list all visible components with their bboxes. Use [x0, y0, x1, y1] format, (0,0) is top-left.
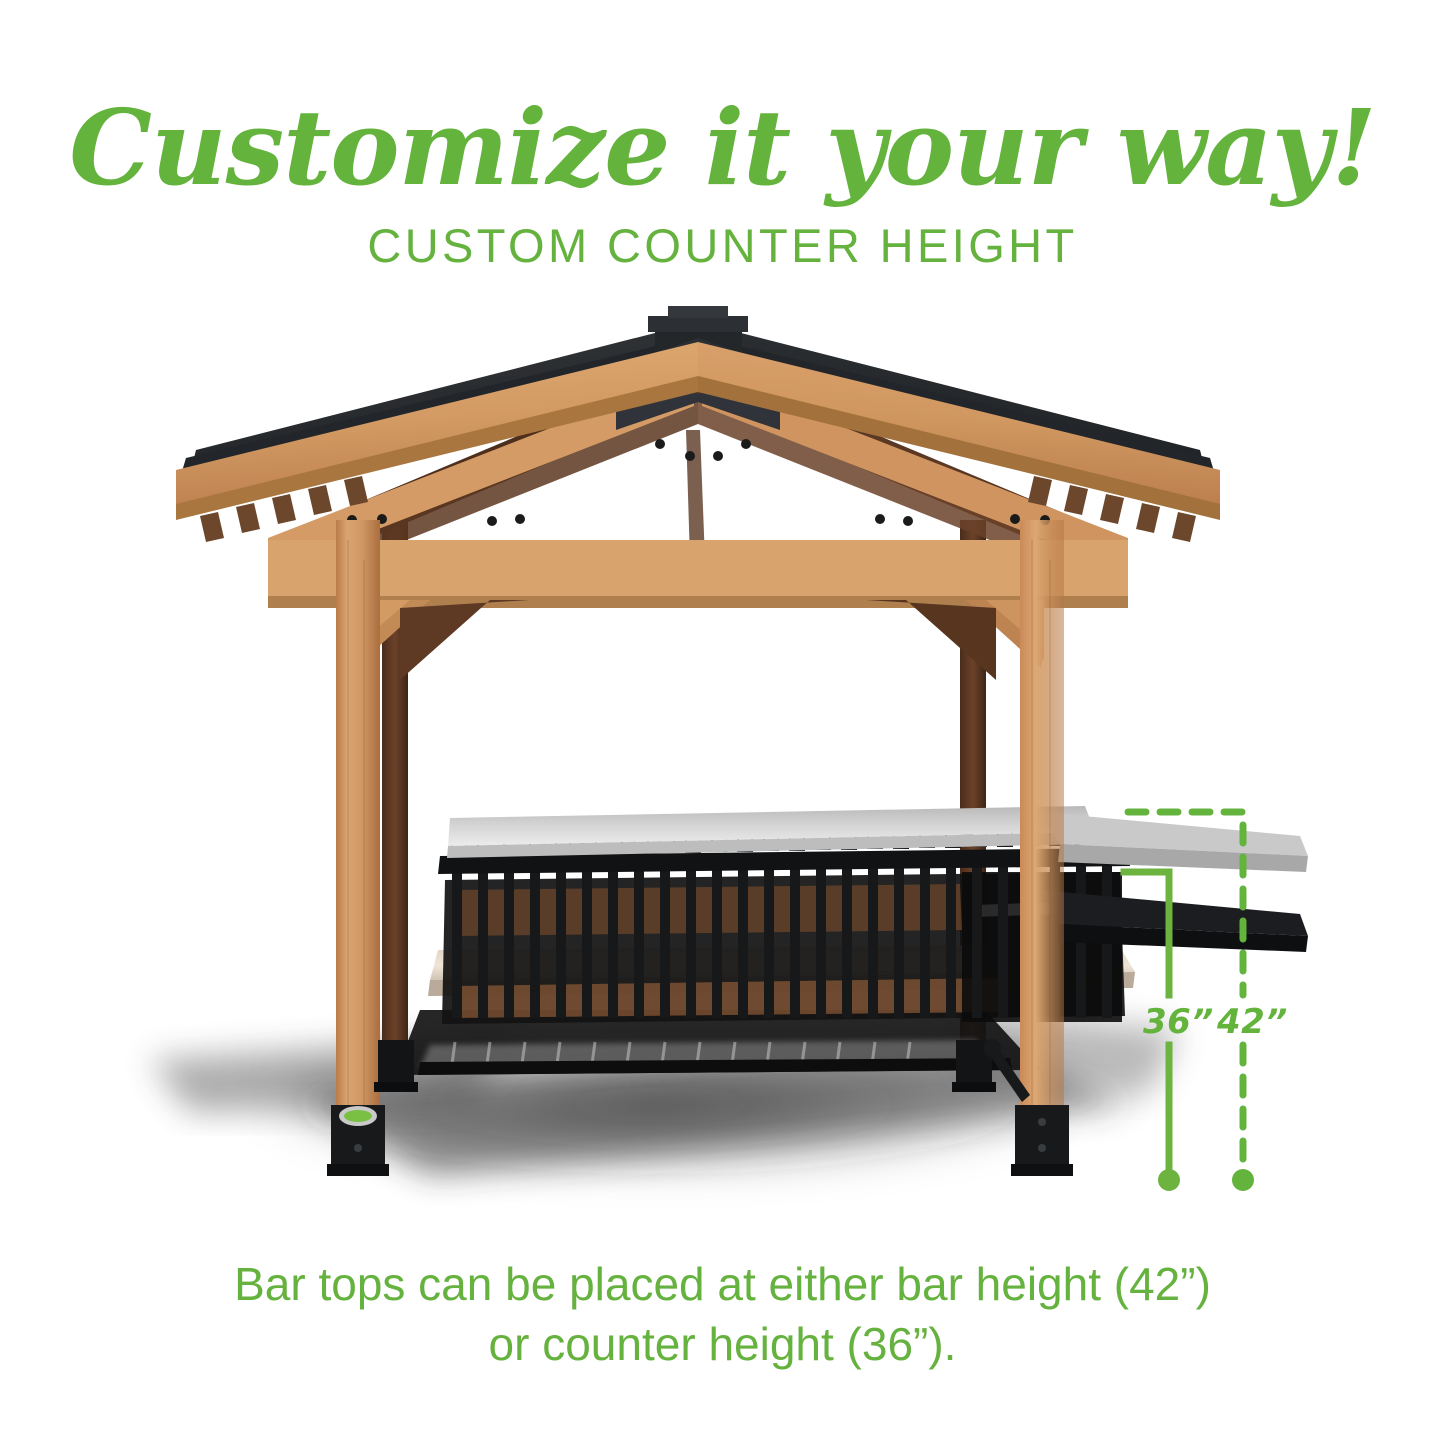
rafter-tail [272, 494, 296, 524]
bolt-dot [875, 514, 885, 524]
baluster [920, 855, 930, 1025]
rafter-tail [200, 512, 224, 542]
post-base-bolt [1038, 1144, 1046, 1152]
baluster [816, 855, 826, 1025]
rafter-tail [1028, 476, 1052, 506]
bolt-dot [713, 451, 723, 461]
front-header-beam [268, 540, 1128, 600]
caption-block: Bar tops can be placed at either bar hei… [90, 1255, 1355, 1375]
counter-height-dimension-label: 36” [1143, 1002, 1214, 1042]
baluster [868, 855, 878, 1025]
post-base-bolt [354, 1144, 362, 1152]
gazebo-illustration [0, 0, 1445, 1445]
logo-badge [339, 1106, 377, 1126]
baluster [842, 855, 852, 1025]
bolt-dot [487, 516, 497, 526]
post-base-body [378, 1040, 414, 1088]
rafter-tail [1064, 485, 1088, 515]
rafter-tail [1100, 494, 1124, 524]
baluster [608, 855, 618, 1025]
roof-peak-cap-top [648, 316, 748, 332]
post-base-plate [1011, 1164, 1073, 1176]
baluster [946, 855, 956, 1025]
front-post-left [336, 520, 380, 1160]
baluster [790, 855, 800, 1025]
post-base-rear-left [374, 1040, 418, 1092]
baluster [738, 855, 748, 1025]
knee-brace-rear-left [400, 600, 530, 680]
poster-canvas: Customize it your way! CUSTOM COUNTER HE… [0, 0, 1445, 1445]
knee-brace-group [352, 600, 1044, 680]
baluster [686, 855, 696, 1025]
baluster [660, 855, 670, 1025]
caption-line-2: or counter height (36”). [90, 1315, 1355, 1375]
baluster [894, 855, 904, 1025]
post-base-plate [327, 1164, 389, 1176]
baluster [556, 855, 566, 1025]
badge-logo-fill [344, 1110, 372, 1122]
bolt-dot [1010, 514, 1020, 524]
rafter-tail [344, 476, 368, 506]
caption-line-1: Bar tops can be placed at either bar hei… [90, 1255, 1355, 1315]
post-base-bolt [1038, 1118, 1046, 1126]
baluster [712, 855, 722, 1025]
post-base-front-right [1011, 1105, 1073, 1176]
post-base-body [1015, 1105, 1069, 1173]
baluster [998, 855, 1008, 1025]
rafter-tail [308, 485, 332, 515]
baluster [504, 855, 514, 1025]
baluster [972, 855, 982, 1025]
post-base-plate [374, 1082, 418, 1092]
baluster [478, 855, 488, 1025]
post-base-plate [952, 1082, 996, 1092]
bolt-dot [685, 451, 695, 461]
bolt-dot [741, 439, 751, 449]
bar-height-dimension-label: 42” [1217, 1002, 1288, 1042]
bolt-dot [515, 514, 525, 524]
brace-pivot [983, 1039, 1001, 1057]
bolt-dot [655, 439, 665, 449]
baluster [634, 855, 644, 1025]
baluster [764, 855, 774, 1025]
baluster [582, 855, 592, 1025]
rafter-tail [1172, 512, 1196, 542]
baluster [452, 855, 462, 1025]
baluster [530, 855, 540, 1025]
roof-peak-finial [668, 306, 728, 318]
bolt-dot [903, 516, 913, 526]
rafter-tail [1136, 503, 1160, 533]
front-post-right [1020, 520, 1064, 1160]
rafter-tail [236, 503, 260, 533]
